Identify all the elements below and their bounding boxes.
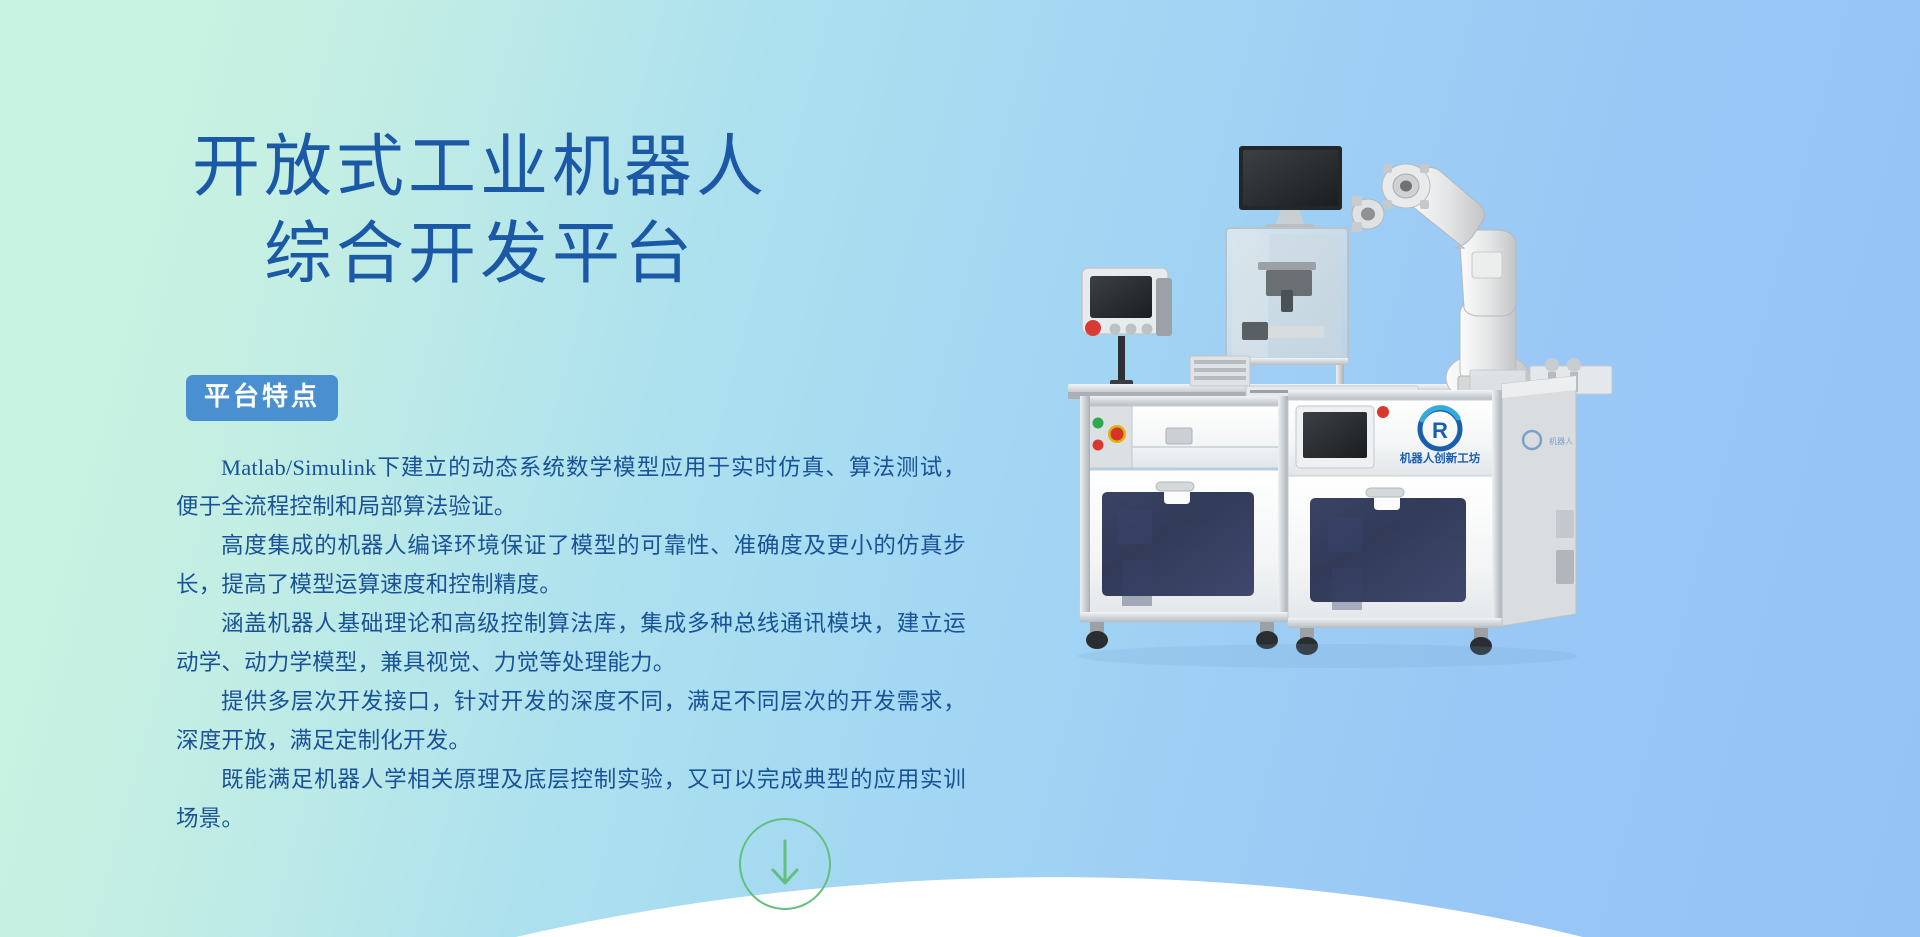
page-title-line-2: 综合开发平台	[0, 213, 960, 296]
hero-banner: R 机器人创新工坊	[0, 0, 1920, 937]
control-cabinet-right: R 机器人创新工坊	[1288, 390, 1502, 655]
feature-badge: 平台特点	[186, 375, 338, 421]
page-title: 开放式工业机器人 综合开发平台	[0, 126, 960, 296]
industrial-robot-arm	[1352, 164, 1530, 404]
arrow-down-icon	[765, 837, 805, 891]
svg-text:R: R	[1432, 418, 1448, 443]
side-cabinet: 机器人	[1502, 376, 1576, 626]
scroll-down-button[interactable]	[739, 818, 831, 910]
feature-paragraph: 高度集成的机器人编译环境保证了模型的可靠性、准确度及更小的仿真步长，提高了模型运…	[176, 526, 966, 604]
feature-paragraph: 既能满足机器人学相关原理及底层控制实验，又可以完成典型的应用实训场景。	[176, 760, 966, 838]
feature-paragraph: 涵盖机器人基础理论和高级控制算法库，集成多种总线通讯模块，建立运动学、动力学模型…	[176, 604, 966, 682]
svg-text:机器人: 机器人	[1549, 436, 1573, 446]
robot-gripper	[1352, 196, 1384, 232]
control-cabinet-left	[1080, 396, 1288, 649]
feature-paragraph-list: Matlab/Simulink下建立的动态系统数学模型应用于实时仿真、算法测试，…	[176, 448, 966, 838]
hmi-touch-panel	[1082, 268, 1172, 388]
display-monitor	[1239, 146, 1342, 230]
feature-paragraph: Matlab/Simulink下建立的动态系统数学模型应用于实时仿真、算法测试，…	[176, 448, 966, 526]
brand-logo-text: 机器人创新工坊	[1400, 451, 1481, 465]
hero-text-column: 开放式工业机器人 综合开发平台 平台特点 Matlab/Simulink下建立的…	[0, 0, 1010, 937]
page-title-line-1: 开放式工业机器人	[0, 126, 960, 209]
feature-paragraph: 提供多层次开发接口，针对开发的深度不同，满足不同层次的开发需求，深度开放，满足定…	[176, 682, 966, 760]
robot-wrist-flange	[1382, 164, 1430, 209]
equipment-illustration: R 机器人创新工坊	[1060, 140, 1680, 780]
